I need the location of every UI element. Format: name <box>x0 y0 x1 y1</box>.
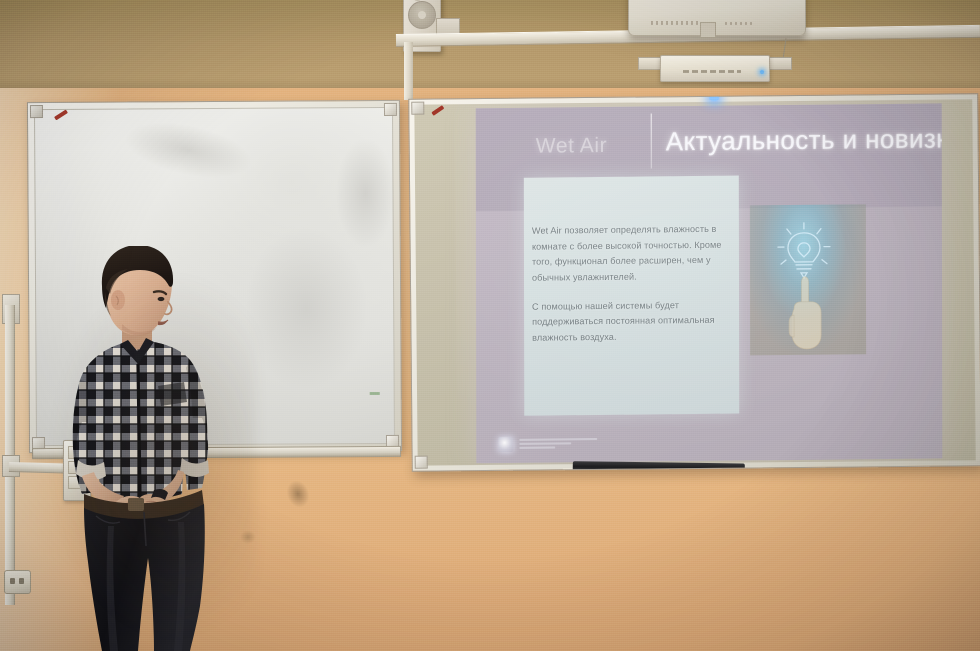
slide-body-text: Wet Air позволяет определять влажность в… <box>532 222 730 360</box>
led-glint-icon <box>709 96 719 101</box>
sensor-bracket-right <box>768 57 792 70</box>
projector-mount <box>700 22 716 38</box>
board-corner <box>30 105 43 118</box>
slide-title: Актуальность и новизна <box>666 123 943 157</box>
projected-slide[interactable]: Wet Air Актуальность и новизна Wet Air п… <box>476 103 943 463</box>
speaker-cone <box>408 1 436 29</box>
board-corner <box>415 456 428 469</box>
slide-header-divider <box>651 113 652 168</box>
projector-vent-secondary <box>725 22 753 25</box>
slide-paragraph: С помощью нашей системы будет поддержива… <box>532 297 730 346</box>
presenter-shadow <box>46 266 256 646</box>
footer-line <box>519 438 597 441</box>
slide-footer-logo-icon <box>498 437 513 452</box>
slide-content-panel: Wet Air позволяет определять влажность в… <box>524 176 739 416</box>
footer-line <box>519 442 571 445</box>
ceiling-projector-icon <box>628 0 806 36</box>
sensor-bracket-left <box>638 57 662 70</box>
slide-logo-text: Wet Air <box>536 134 608 159</box>
projector-vent <box>651 21 701 25</box>
board-smudge <box>120 113 257 188</box>
interactive-whiteboard-right[interactable]: Wet Air Актуальность и новизна Wet Air п… <box>408 93 980 471</box>
board-corner <box>411 102 424 115</box>
pointing-finger-icon <box>780 275 832 352</box>
board-corner <box>384 103 397 116</box>
board-smudge <box>246 228 367 389</box>
slide-footer-text <box>519 438 597 451</box>
mounting-rail-vertical <box>404 42 413 100</box>
presenter <box>62 246 244 651</box>
sensor-led-icon <box>760 70 764 74</box>
board-mark <box>370 392 380 395</box>
sensor-label <box>683 70 741 73</box>
classroom-scene: Wet Air Актуальность и новизна Wet Air п… <box>0 0 980 651</box>
lightbulb-image <box>750 204 866 355</box>
power-outlet-icon <box>4 570 31 594</box>
footer-line <box>519 446 555 448</box>
board-smudge <box>335 138 396 248</box>
projection-surface[interactable]: Wet Air Актуальность и новизна Wet Air п… <box>414 99 975 465</box>
slide-paragraph: Wet Air позволяет определять влажность в… <box>532 222 730 287</box>
wall-sensor-box-icon <box>660 55 770 82</box>
